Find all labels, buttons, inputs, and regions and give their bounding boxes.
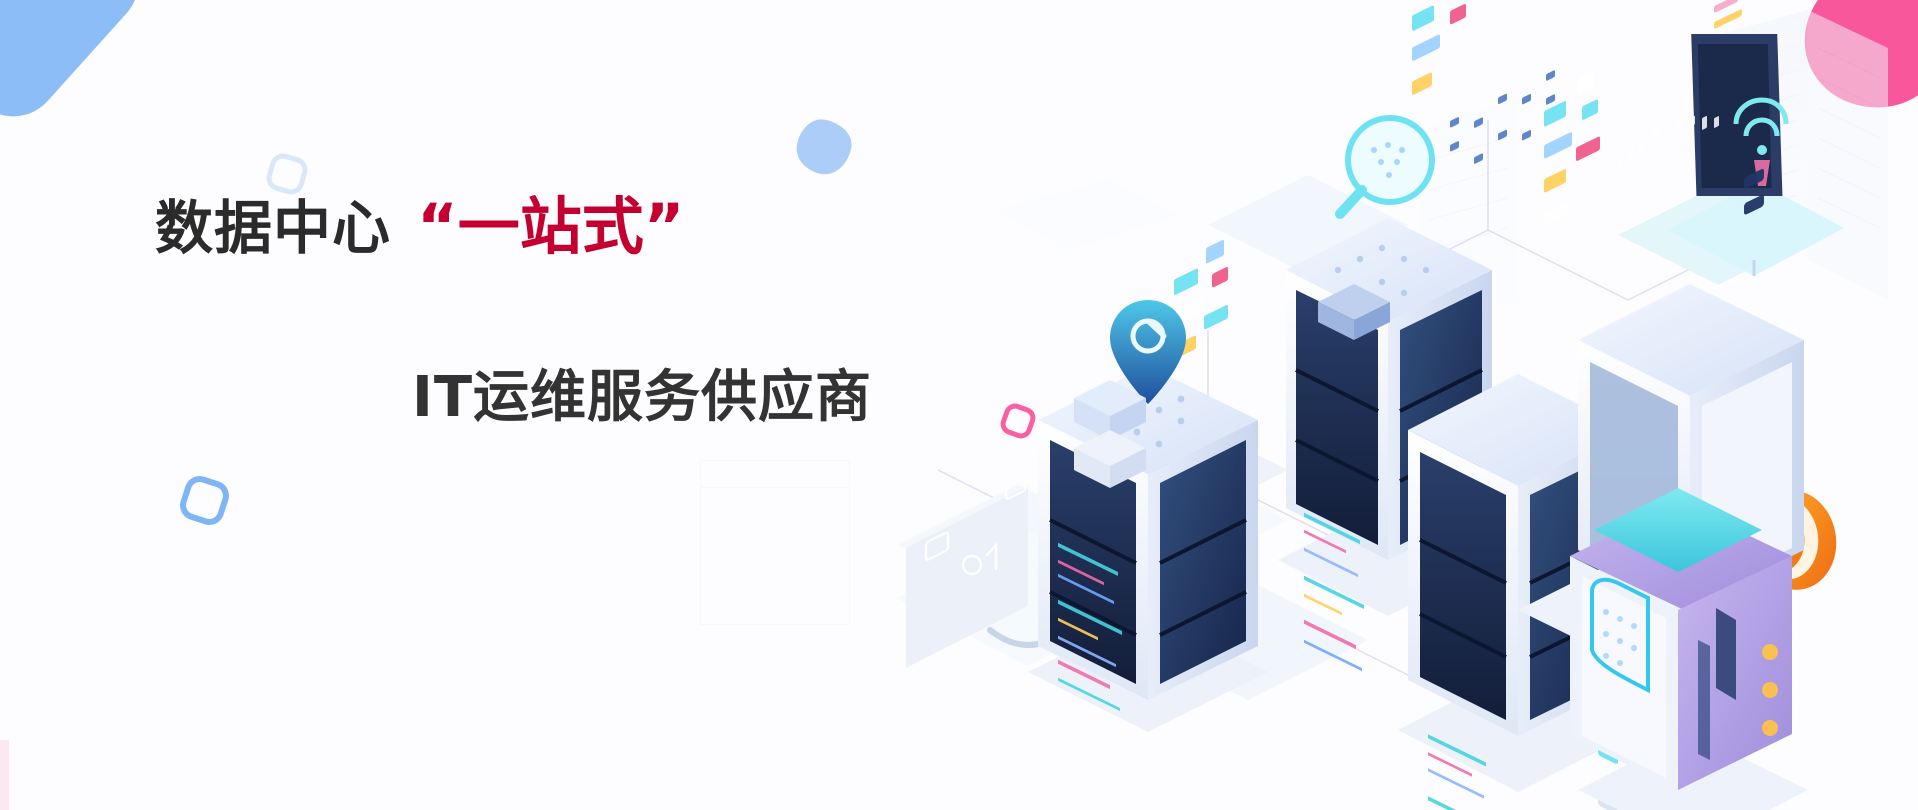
location-pin-icon [1110, 300, 1186, 404]
headline-line-1-black: 数据中心 [155, 199, 391, 257]
data-cabinet [1570, 115, 1808, 810]
blob-top-right-shape [1791, 0, 1918, 121]
magnifier-icon [1340, 118, 1432, 214]
headline-line-2: IT运维服务供应商 [412, 370, 872, 426]
ghost-buildings [998, 10, 1888, 330]
headline-line-1-red: “一站式” [417, 196, 685, 258]
hero-banner: 数据中心 “一站式” IT运维服务供应商 [0, 0, 1918, 810]
monitor-right [1048, 416, 1288, 582]
headline-group: 数据中心 “一站式” IT运维服务供应商 [0, 0, 1060, 810]
coin-icon [1743, 483, 1844, 596]
server-rack-3 [1398, 70, 1640, 810]
network-cubes [1074, 284, 1390, 488]
network-lines [938, 120, 1798, 680]
server-rack-1 [1028, 239, 1268, 732]
headline-line-1: 数据中心 “一站式” [155, 196, 685, 258]
server-rack-2 [1278, 0, 1500, 671]
